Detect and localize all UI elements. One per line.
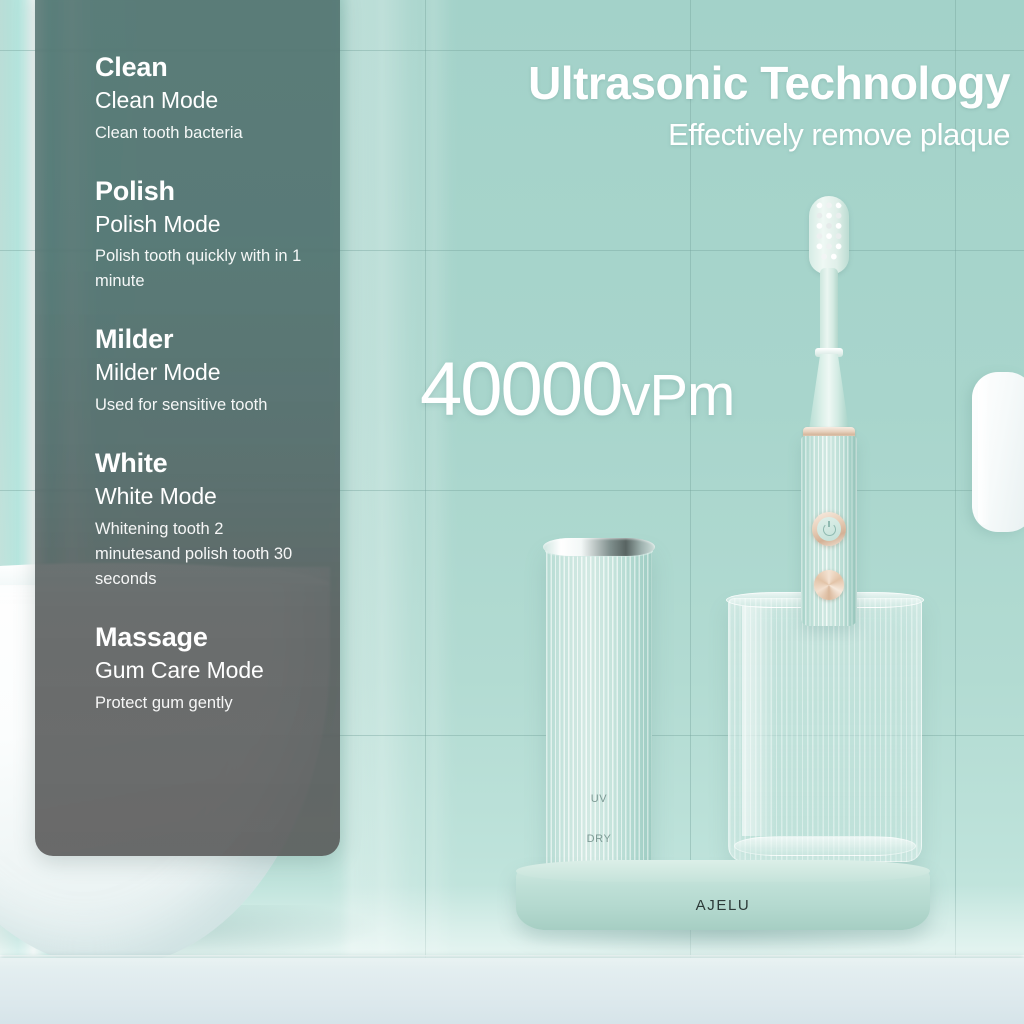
- brush-upper-body: [809, 354, 849, 430]
- mode-description: Whitening tooth 2 minutesand polish toot…: [95, 517, 310, 592]
- mode-item-massage: Massage Gum Care Mode Protect gum gently: [95, 622, 340, 716]
- modes-overlay-panel: Clean Clean Mode Clean tooth bacteria Po…: [35, 0, 340, 856]
- mode-description: Used for sensitive tooth: [95, 393, 310, 418]
- mode-subtitle: Polish Mode: [95, 210, 340, 239]
- brush-neck: [820, 268, 838, 354]
- mode-item-clean: Clean Clean Mode Clean tooth bacteria: [95, 52, 340, 146]
- brand-logo: AJELU: [516, 897, 930, 914]
- product-marketing-image: Ultrasonic Technology Effectively remove…: [0, 0, 1024, 1024]
- uv-label: UV: [546, 793, 652, 805]
- mode-item-white: White White Mode Whitening tooth 2 minut…: [95, 448, 340, 592]
- electric-toothbrush: [795, 196, 861, 626]
- mode-description: Polish tooth quickly with in 1 minute: [95, 244, 310, 294]
- modes-list: Clean Clean Mode Clean tooth bacteria Po…: [35, 0, 340, 716]
- mode-subtitle: Gum Care Mode: [95, 656, 340, 685]
- mode-subtitle: Clean Mode: [95, 86, 340, 115]
- mode-title: Clean: [95, 52, 340, 84]
- uv-sanitizer-canister: UV DRY: [546, 545, 652, 885]
- mode-title: Polish: [95, 176, 340, 208]
- mode-subtitle: White Mode: [95, 482, 340, 511]
- mode-description: Protect gum gently: [95, 691, 310, 716]
- power-icon: [823, 523, 836, 536]
- brush-bristles: [813, 199, 845, 263]
- mode-button-disc[interactable]: [814, 570, 844, 600]
- canister-chrome-rim: [543, 538, 655, 556]
- wall-mounted-fixture: [972, 372, 1024, 532]
- mode-title: Massage: [95, 622, 340, 654]
- mode-title: Milder: [95, 324, 340, 356]
- mode-item-polish: Polish Polish Mode Polish tooth quickly …: [95, 176, 340, 295]
- dock-top-surface: [516, 860, 930, 882]
- power-button-face: [817, 517, 841, 541]
- mode-description: Clean tooth bacteria: [95, 121, 310, 146]
- cup-base-ring: [734, 836, 916, 856]
- power-button[interactable]: [812, 512, 846, 546]
- mode-item-milder: Milder Milder Mode Used for sensitive to…: [95, 324, 340, 418]
- mode-title: White: [95, 448, 340, 480]
- dry-label: DRY: [546, 833, 652, 845]
- mode-subtitle: Milder Mode: [95, 358, 340, 387]
- countertop: [0, 958, 1024, 1024]
- glass-rinse-cup: [728, 598, 922, 862]
